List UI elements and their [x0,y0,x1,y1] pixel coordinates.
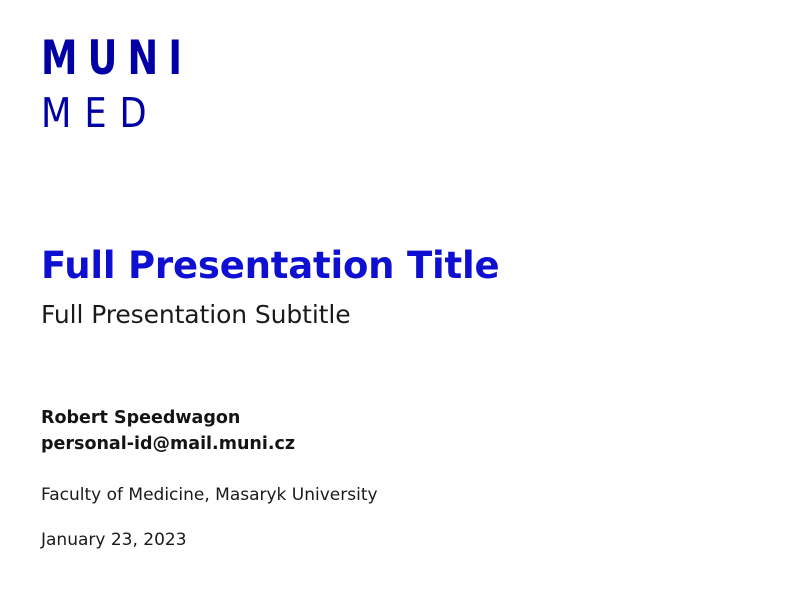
title-block: Full Presentation Title Full Presentatio… [41,244,741,330]
presentation-title-slide: MUNI MED Full Presentation Title Full Pr… [0,0,794,596]
author-meta-block: Robert Speedwagon personal-id@mail.muni.… [41,405,741,552]
author-name: Robert Speedwagon [41,405,741,431]
author-email: personal-id@mail.muni.cz [41,431,741,457]
logo-med-wordmark: MED [41,93,208,133]
presentation-date: January 23, 2023 [41,528,741,552]
muni-med-logo: MUNI MED [41,36,235,133]
author-affiliation: Faculty of Medicine, Masaryk University [41,483,741,507]
page-subtitle: Full Presentation Subtitle [41,300,741,330]
logo-muni-wordmark: MUNI [41,36,192,82]
page-title: Full Presentation Title [41,244,741,288]
